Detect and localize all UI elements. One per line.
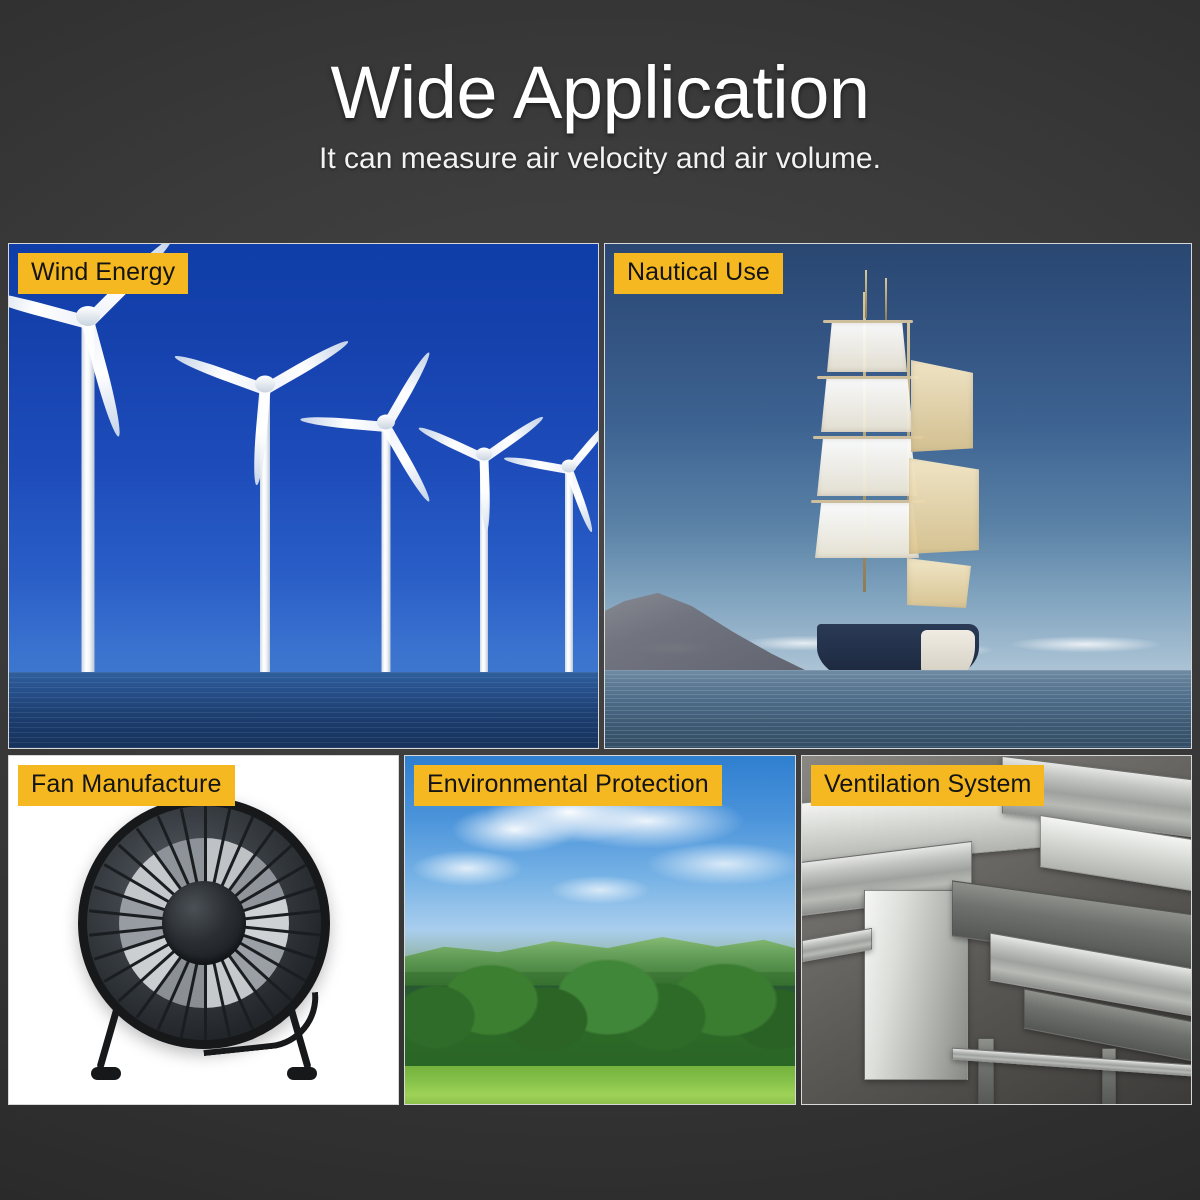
tree-line (405, 930, 795, 1070)
wide-application-banner: Wide Application It can measure air velo… (0, 0, 1200, 1200)
ship-sail (817, 438, 917, 496)
desk-fan-image (9, 756, 398, 1104)
ship-sail (815, 502, 919, 558)
page-subtitle: It can measure air velocity and air volu… (0, 140, 1200, 178)
topmast (885, 278, 887, 320)
fan-leg (96, 1006, 120, 1069)
support-column (1102, 1048, 1116, 1105)
turbine-hub (562, 460, 577, 473)
panel-label-environmental-protection: Environmental Protection (414, 765, 722, 806)
fan-foot (287, 1067, 317, 1080)
panel-ventilation-system[interactable]: Ventilation System (801, 755, 1192, 1105)
ship-sail (907, 558, 971, 608)
ship-sail (821, 378, 913, 432)
forest-meadow-image (405, 756, 795, 1104)
sea-surface (9, 672, 598, 748)
ship-yard (817, 376, 919, 379)
turbine-hub (76, 306, 100, 326)
turbine-mast (565, 466, 573, 686)
ship-sail (911, 360, 973, 452)
application-grid: Wind Energy (8, 243, 1192, 1105)
panel-label-nautical-use: Nautical Use (614, 253, 783, 294)
panel-fan-manufacture[interactable]: Fan Manufacture (8, 755, 399, 1105)
sea-surface (605, 670, 1191, 748)
sailing-ship (803, 286, 993, 686)
turbine-hub (255, 376, 275, 393)
fan-stand (91, 1014, 317, 1080)
panel-wind-energy[interactable]: Wind Energy (8, 243, 599, 749)
support-column (978, 1038, 994, 1105)
panel-label-wind-energy: Wind Energy (18, 253, 188, 294)
ship-yard (811, 500, 925, 503)
fan-foot (91, 1067, 121, 1080)
ship-yard (823, 320, 913, 323)
ship-sail (909, 458, 979, 554)
ship-sail (827, 322, 907, 372)
page-title: Wide Application (0, 52, 1200, 134)
fan-motor-hub (162, 881, 246, 965)
turbine-hub (377, 415, 395, 430)
turbine-mast (82, 316, 95, 686)
wind-farm-image (9, 244, 598, 748)
panel-nautical-use[interactable]: Nautical Use (604, 243, 1192, 749)
panel-label-ventilation-system: Ventilation System (811, 765, 1044, 806)
panel-label-fan-manufacture: Fan Manufacture (18, 765, 235, 806)
panel-environmental-protection[interactable]: Environmental Protection (404, 755, 796, 1105)
sail-rigging (803, 286, 993, 634)
hvac-ducting-image (802, 756, 1191, 1104)
wind-turbine (479, 454, 488, 686)
ship-yard (813, 436, 923, 439)
header: Wide Application It can measure air velo… (0, 0, 1200, 243)
tall-ship-image (605, 244, 1191, 748)
wind-turbine (565, 466, 573, 686)
turbine-mast (382, 422, 391, 690)
wind-turbine (381, 422, 391, 690)
topmast (865, 270, 867, 318)
wind-turbine (259, 384, 270, 694)
wind-turbine (81, 316, 95, 686)
grass-field (405, 1066, 795, 1104)
turbine-hub (476, 448, 492, 461)
